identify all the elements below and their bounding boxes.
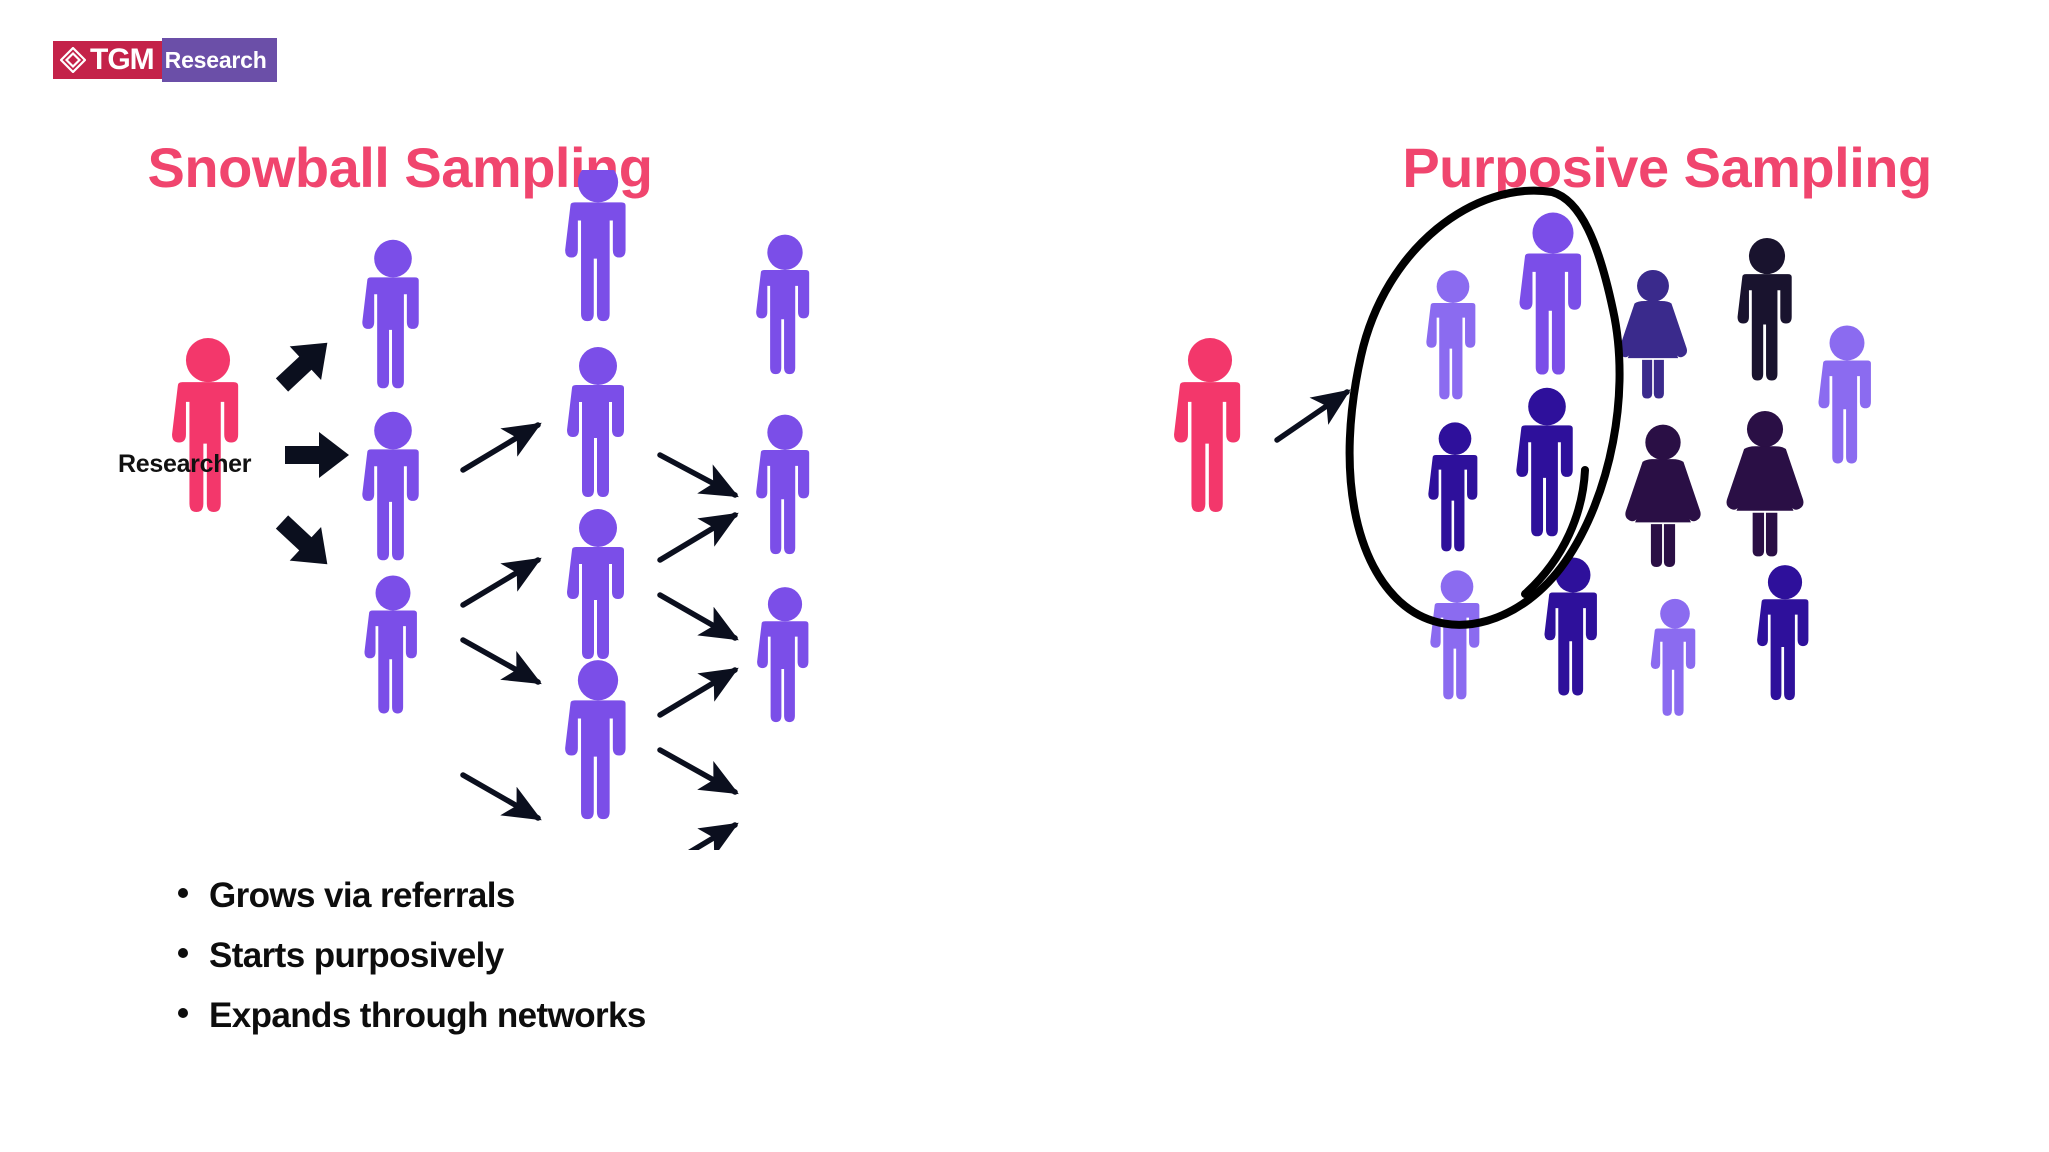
person-c1-2 xyxy=(362,412,418,561)
snowball-column-3 xyxy=(756,235,809,722)
researcher-figure-purposive xyxy=(1174,338,1240,512)
arrow-c2-3-to-c3-3 xyxy=(660,750,735,792)
person-a1-male-light xyxy=(1426,270,1475,399)
person-c2-3 xyxy=(567,509,624,659)
person-c1-3 xyxy=(364,575,416,713)
bullet-dot-icon xyxy=(178,888,188,898)
person-c3-2 xyxy=(756,415,809,555)
person-b4-female-deep xyxy=(1727,411,1804,556)
purposive-selection-arrow xyxy=(1277,392,1347,440)
person-a3-female-violet xyxy=(1619,270,1687,399)
arrow-c1-3-to-c2-4 xyxy=(463,775,538,818)
list-item: Starts purposively xyxy=(178,938,646,973)
person-c3-3 xyxy=(757,587,808,722)
researcher-thick-arrows xyxy=(266,326,349,581)
bullet-dot-icon xyxy=(178,948,188,958)
bullet-dot-icon xyxy=(178,1008,188,1018)
panel-snowball-sampling: Snowball Sampling xyxy=(0,0,1024,1152)
researcher-label-snowball: Researcher xyxy=(118,450,251,479)
person-b3-female-deep xyxy=(1625,425,1700,567)
arrow-c2-3-to-c3-2 xyxy=(660,670,735,715)
arrow-c2-1-to-c3-1 xyxy=(660,455,735,495)
person-a5-male-light xyxy=(1818,325,1870,463)
arrow-researcher-to-cluster xyxy=(1277,392,1347,440)
panel-purposive-sampling: Purposive Sampling xyxy=(1025,0,2049,1152)
person-c3-male-light xyxy=(1651,599,1695,716)
arrow-c1-1-to-c2-1 xyxy=(463,425,538,470)
person-c2-1 xyxy=(565,170,625,321)
person-b1-male-indigo xyxy=(1428,422,1477,551)
purposive-cluster-diagram xyxy=(1025,170,2049,850)
snowball-network-diagram xyxy=(0,170,1024,850)
person-c3-1 xyxy=(756,235,809,374)
person-c2-4 xyxy=(565,660,625,819)
person-c2-2 xyxy=(567,347,624,497)
arrow-c2-2-to-c3-2 xyxy=(660,595,735,638)
arrow-c2-2-to-c3-1 xyxy=(660,515,735,560)
thick-arrow-up-right xyxy=(266,326,343,402)
snowball-column-2 xyxy=(565,170,625,819)
arrow-c1-2-to-c2-3 xyxy=(463,640,538,682)
bullet-text: Starts purposively xyxy=(209,938,504,973)
list-item: Grows via referrals xyxy=(178,878,646,913)
person-c1-1 xyxy=(362,240,418,389)
person-b2-male-indigo xyxy=(1516,388,1572,537)
bullet-text: Expands through networks xyxy=(209,998,646,1033)
list-item: Expands through networks xyxy=(178,998,646,1033)
researcher-figure-snowball xyxy=(172,338,238,512)
snowball-bullet-list: Grows via referrals Starts purposively E… xyxy=(178,878,646,1058)
snowball-column-1 xyxy=(362,240,418,714)
bullet-text: Grows via referrals xyxy=(209,878,515,913)
person-a2-male-purple xyxy=(1520,213,1582,375)
arrow-c2-4-to-c3-3 xyxy=(660,825,735,850)
person-c4-male-indigo xyxy=(1757,565,1808,700)
person-c1-male-light xyxy=(1430,570,1479,699)
thick-arrow-right xyxy=(285,432,349,478)
person-a4-male-black xyxy=(1738,238,1792,381)
thick-arrow-down-right xyxy=(266,505,343,581)
arrow-c1-2-to-c2-2 xyxy=(463,560,538,605)
